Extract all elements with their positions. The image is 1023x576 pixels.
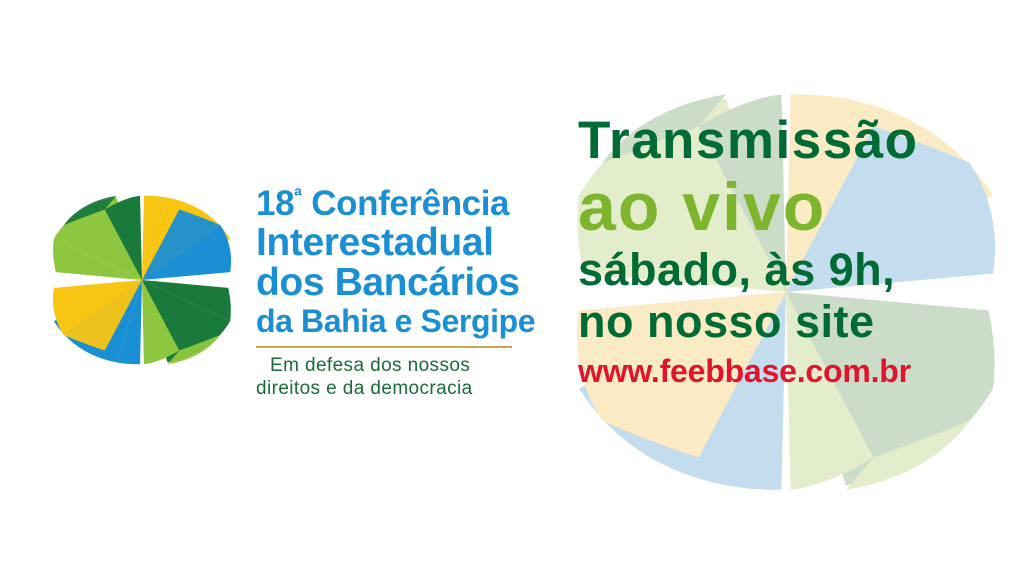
- broadcast-headline: Transmissão: [578, 112, 1008, 170]
- broadcast-schedule-line-2: no nosso site: [578, 296, 1008, 348]
- conference-title-line-1: 18ª Conferência: [256, 178, 535, 223]
- broadcast-schedule-line-1: sábado, às 9h,: [578, 244, 1008, 296]
- conference-title-line-3: dos Bancários: [256, 263, 535, 303]
- brand-divider: [256, 346, 512, 348]
- conference-title-line-2: Interestadual: [256, 223, 535, 263]
- broadcast-panel: Transmissão ao vivo sábado, às 9h, no no…: [540, 0, 1023, 576]
- conference-pinwheel-logo: [44, 182, 240, 378]
- edition-number: 18: [256, 184, 294, 223]
- broadcast-text-block: Transmissão ao vivo sábado, às 9h, no no…: [578, 112, 1008, 392]
- edition-ordinal: ª: [294, 185, 302, 208]
- tagline-line-1: Em defesa dos nossos: [256, 354, 535, 377]
- conference-word: Conferência: [311, 184, 509, 223]
- broadcast-subhead: ao vivo: [578, 170, 1008, 244]
- conference-title-block: 18ª Conferência Interestadual dos Bancár…: [256, 176, 535, 400]
- tagline-line-2: direitos e da democracia: [256, 377, 535, 400]
- poster-canvas: 18ª Conferência Interestadual dos Bancár…: [0, 0, 1023, 576]
- conference-brand-lockup: 18ª Conferência Interestadual dos Bancár…: [44, 176, 534, 400]
- website-url[interactable]: www.feebbase.com.br: [578, 350, 1008, 392]
- conference-title-line-4: da Bahia e Sergipe: [256, 303, 535, 339]
